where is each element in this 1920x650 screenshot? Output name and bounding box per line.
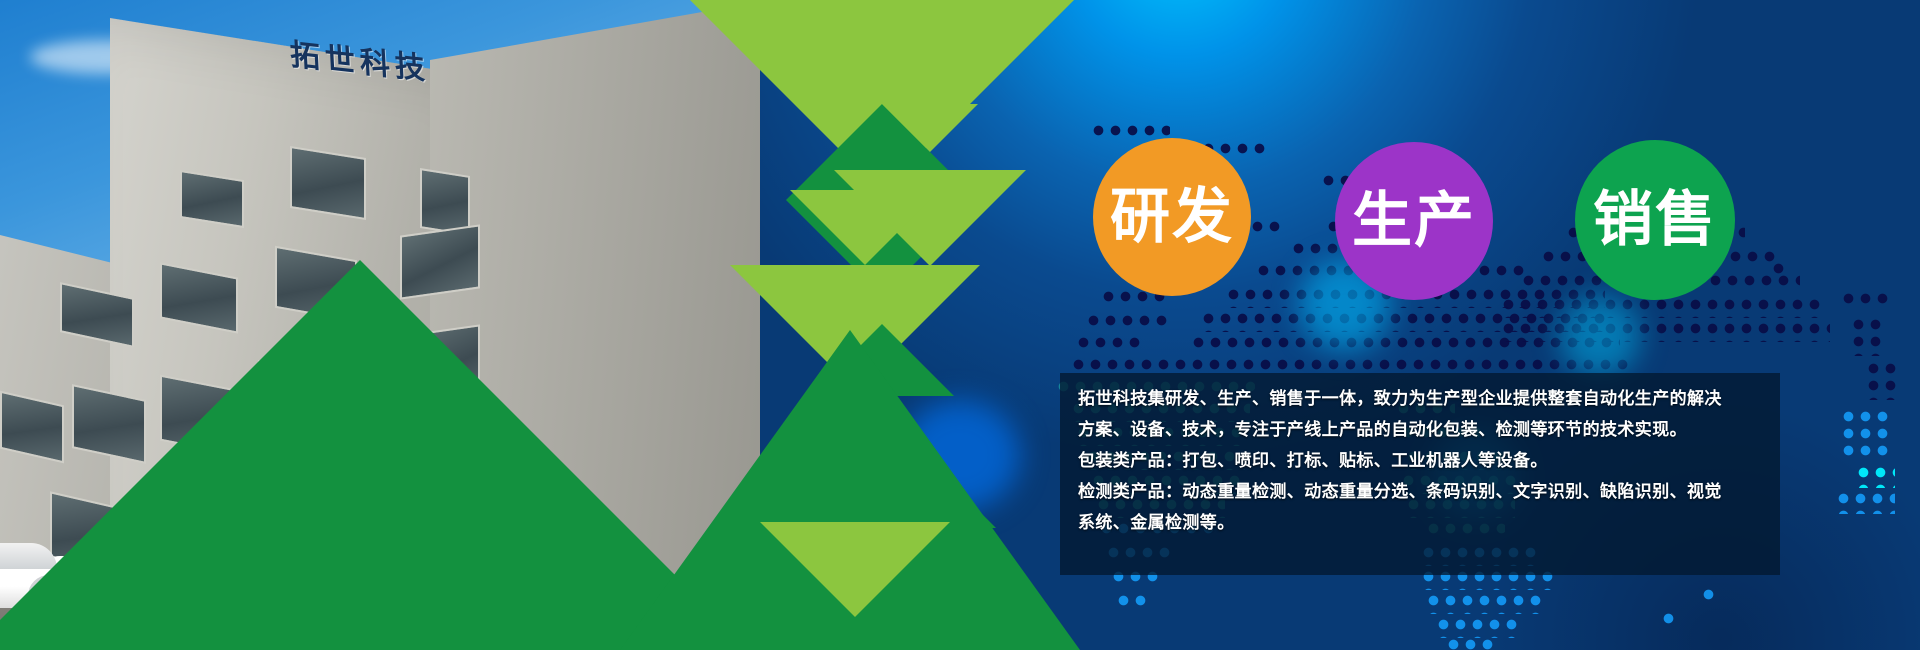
description-panel: 拓世科技集研发、生产、销售于一体，致力为生产型企业提供整套自动化生产的解决 方案… xyxy=(1060,373,1780,575)
badge-rd-label: 研发 xyxy=(1110,187,1234,247)
description-line-1: 拓世科技集研发、生产、销售于一体，致力为生产型企业提供整套自动化生产的解决 xyxy=(1078,384,1778,415)
description-line-3: 包装类产品：打包、喷印、打标、贴标、工业机器人等设备。 xyxy=(1078,446,1778,477)
window xyxy=(400,324,480,409)
badge-production[interactable]: 生产 xyxy=(1335,142,1493,300)
window xyxy=(400,224,480,299)
description-line-4: 检测类产品：动态重量检测、动态重量分选、条码识别、文字识别、缺陷识别、视觉 xyxy=(1078,477,1778,508)
badge-rd[interactable]: 研发 xyxy=(1093,138,1251,296)
description-line-5: 系统、金属检测等。 xyxy=(1078,508,1778,539)
window xyxy=(290,146,366,220)
badge-sales[interactable]: 销售 xyxy=(1575,140,1735,300)
company-banner: 拓世科技 xyxy=(0,0,1920,650)
photo-bottom-edge xyxy=(0,640,760,650)
factory-building-photo: 拓世科技 xyxy=(0,0,760,650)
description-line-2: 方案、设备、技术，专注于产线上产品的自动化包装、检测等环节的技术实现。 xyxy=(1078,415,1778,446)
window xyxy=(180,170,244,228)
badge-sales-label: 销售 xyxy=(1593,190,1717,250)
badge-production-label: 生产 xyxy=(1352,191,1476,251)
